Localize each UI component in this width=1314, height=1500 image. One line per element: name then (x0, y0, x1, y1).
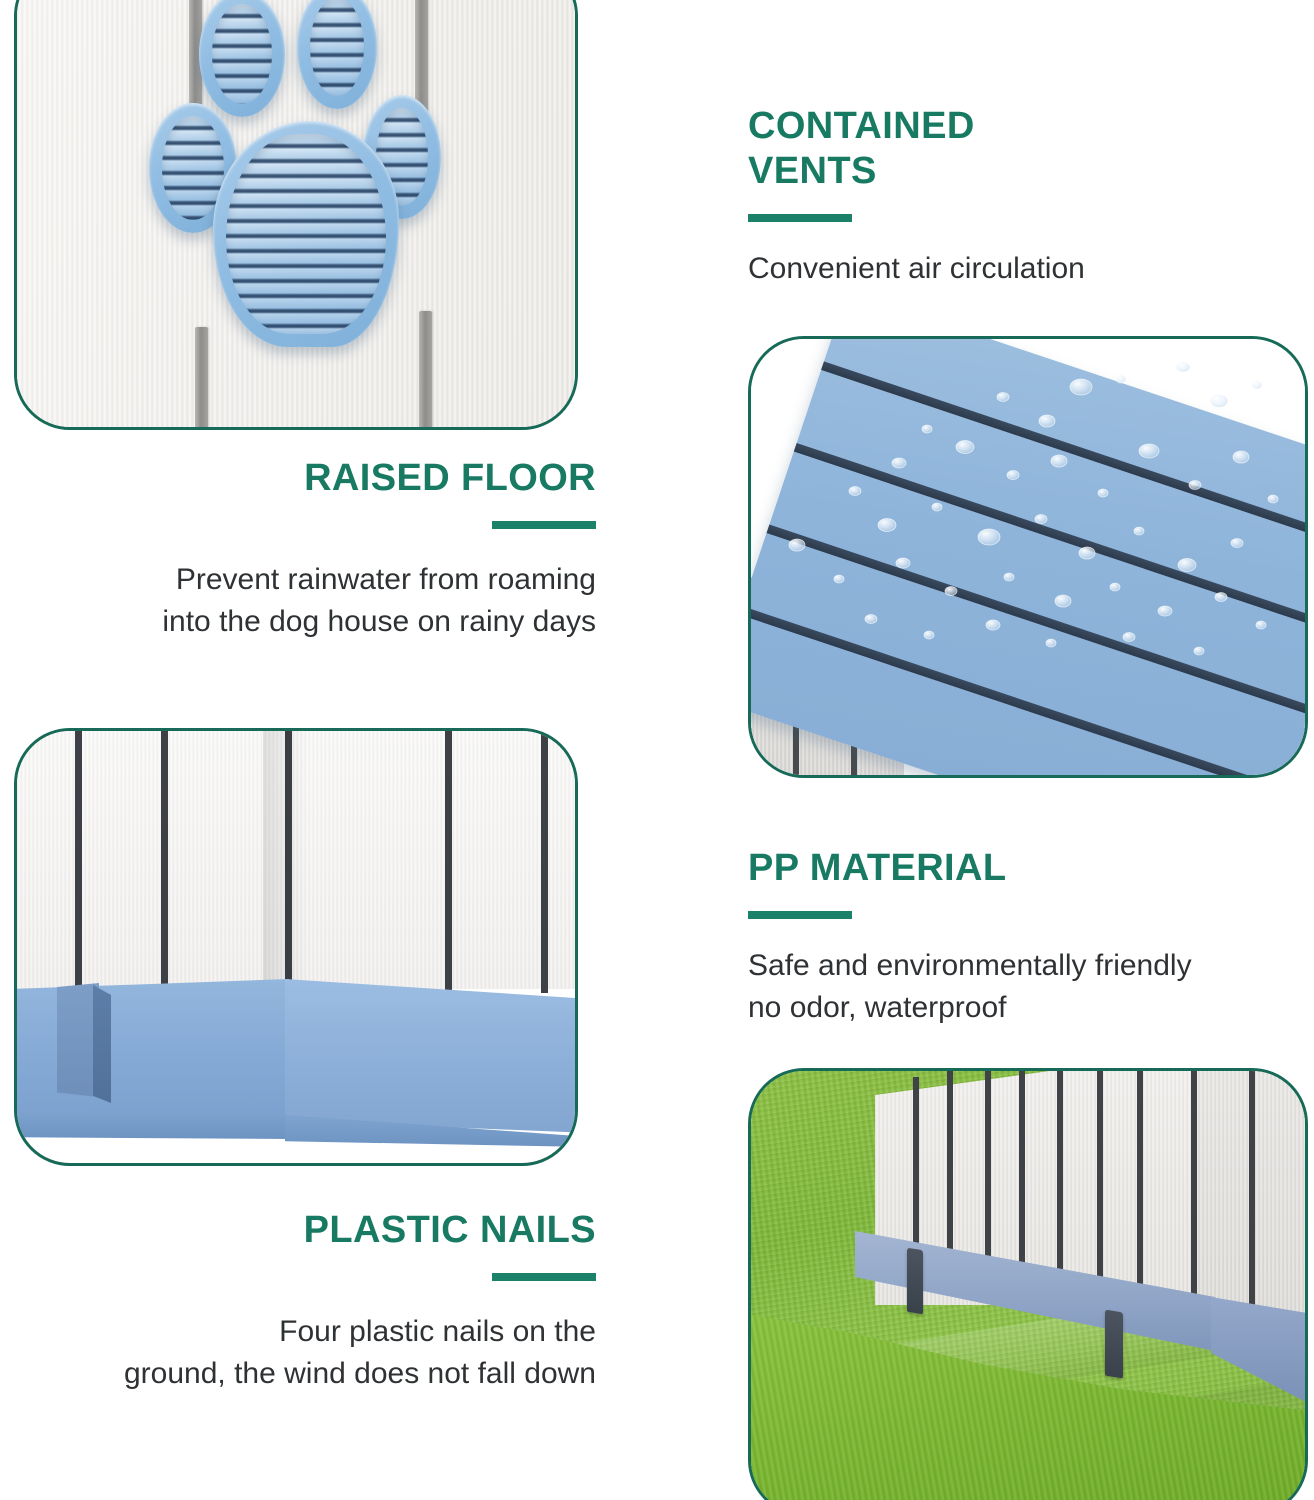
wall-seam (1019, 1071, 1025, 1291)
toe-vent-1 (199, 0, 285, 117)
feature-title-pp-material: PP MATERIAL (748, 846, 1308, 891)
title-underline-pp-material (748, 911, 852, 919)
plank-seam (445, 731, 452, 993)
panel-contained-vents-photo (14, 0, 578, 430)
pad-vent (213, 121, 399, 347)
wall-seam (1249, 1071, 1255, 1319)
base-right-face (285, 979, 575, 1133)
title-underline-raised-floor (492, 521, 596, 529)
plastic-nail-1 (907, 1248, 923, 1315)
feature-text-contained-vents: CONTAINED VENTS Convenient air circulati… (748, 104, 1308, 290)
wall-seam (1137, 1071, 1143, 1309)
panel-pp-material-photo (748, 336, 1308, 778)
infographic-root: CONTAINED VENTS Convenient air circulati… (0, 0, 1314, 1500)
nail-slot (57, 983, 99, 1097)
feature-text-raised-floor: RAISED FLOOR Prevent rainwater from roam… (10, 456, 596, 644)
plastic-nail-2 (1105, 1310, 1123, 1379)
title-underline-plastic-nails (492, 1273, 596, 1281)
feature-title-plastic-nails: PLASTIC NAILS (10, 1208, 596, 1253)
paw-vent-icon (155, 0, 455, 375)
toe-vent-2 (297, 0, 377, 109)
panel-plastic-nails-photo (748, 1068, 1308, 1500)
feature-text-pp-material: PP MATERIAL Safe and environmentally fri… (748, 846, 1308, 1030)
plank-seam (75, 731, 82, 993)
wall-corner-shadow (263, 731, 307, 1017)
feature-title-contained-vents: CONTAINED VENTS (748, 104, 1308, 194)
wall-seam (1097, 1071, 1103, 1301)
plank-seam (161, 731, 168, 993)
feature-text-plastic-nails: PLASTIC NAILS Four plastic nails on the … (10, 1208, 596, 1396)
wall-seam (1191, 1071, 1197, 1319)
feature-title-raised-floor: RAISED FLOOR (10, 456, 596, 501)
feature-description-plastic-nails: Four plastic nails on the ground, the wi… (10, 1311, 596, 1396)
wall-seam (1057, 1071, 1063, 1295)
nail-slot-shadow (93, 985, 111, 1103)
feature-description-contained-vents: Convenient air circulation (748, 248, 1308, 291)
feature-description-pp-material: Safe and environmentally friendly no odo… (748, 945, 1308, 1030)
feature-description-raised-floor: Prevent rainwater from roaming into the … (10, 559, 596, 644)
title-underline-contained-vents (748, 214, 852, 222)
panel-raised-floor-photo (14, 728, 578, 1166)
plank-seam (541, 731, 548, 993)
